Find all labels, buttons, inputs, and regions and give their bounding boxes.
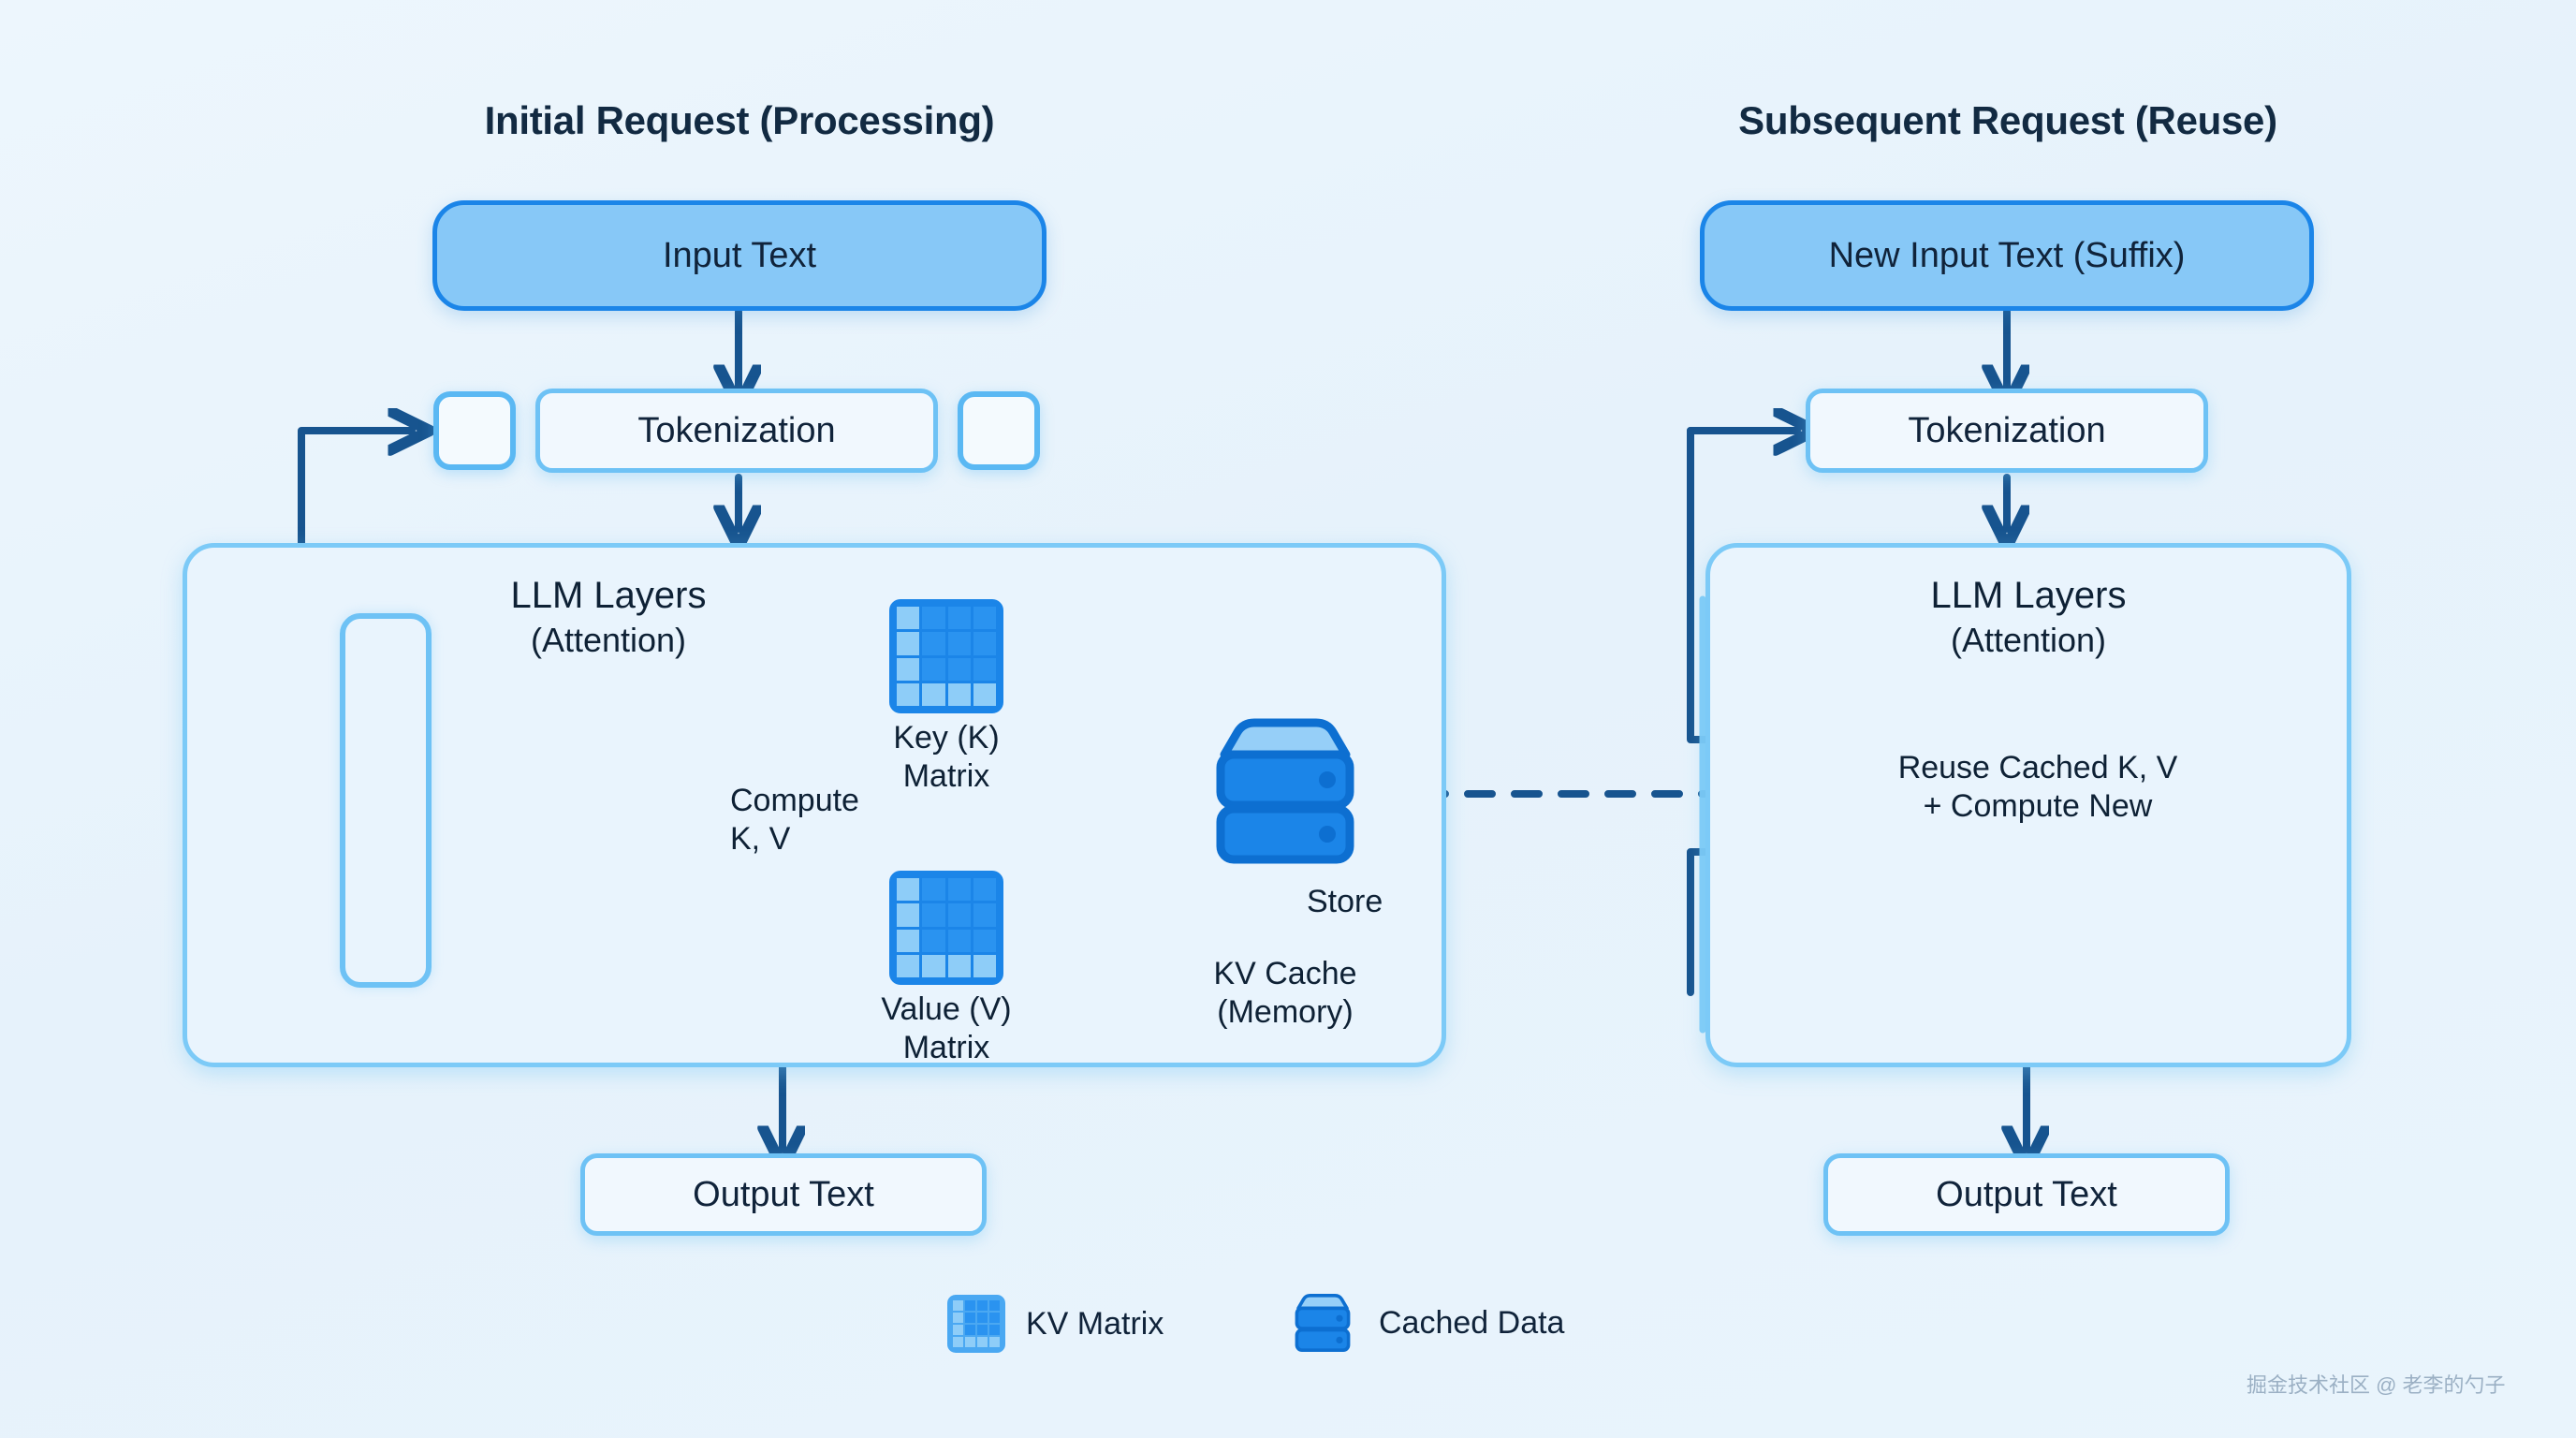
legend-label-cached-data: Cached Data — [1379, 1305, 1564, 1342]
node-output-text-left[interactable]: Output Text — [580, 1153, 987, 1236]
legend-item-cached-data: Cached Data — [1287, 1289, 1564, 1357]
label-reuse-cached: Reuse Cached K, V + Compute New — [1832, 749, 2244, 827]
legend-label-kv-matrix: KV Matrix — [1026, 1306, 1164, 1343]
label-attention-right: (Attention) — [1822, 620, 2234, 661]
panel-title-initial: Initial Request (Processing) — [407, 98, 1072, 143]
label-llm-layers-left: LLM Layers — [402, 573, 814, 619]
node-output-text-right[interactable]: Output Text — [1823, 1153, 2230, 1236]
node-input-text-left[interactable]: Input Text — [432, 200, 1046, 311]
token-chip-left-start — [433, 391, 516, 470]
token-chip-left-end — [958, 391, 1040, 470]
watermark: 掘金技术社区 @ 老李的勺子 — [2247, 1369, 2506, 1399]
kv-matrix-legend-icon — [947, 1295, 1005, 1353]
label-llm-layers-right: LLM Layers — [1822, 573, 2234, 619]
key-matrix-icon — [889, 599, 1003, 713]
node-tokenization-left[interactable]: Tokenization — [535, 389, 938, 473]
node-tokenization-right[interactable]: Tokenization — [1806, 389, 2208, 473]
legend-item-kv-matrix: KV Matrix — [947, 1295, 1164, 1353]
label-key-matrix: Key (K) Matrix — [853, 719, 1040, 797]
node-input-text-right[interactable]: New Input Text (Suffix) — [1700, 200, 2314, 311]
panel-title-subsequent: Subsequent Request (Reuse) — [1643, 98, 2373, 143]
value-matrix-icon — [889, 871, 1003, 985]
label-kv-cache-memory: KV Cache (Memory) — [1173, 955, 1398, 1033]
attention-stack-left — [340, 613, 432, 988]
diagram-canvas: Initial Request (Processing) Input Text … — [0, 0, 2576, 1438]
kv-cache-server-icon — [1196, 712, 1374, 871]
label-store: Store — [1307, 883, 1456, 921]
cached-data-server-icon — [1287, 1289, 1358, 1357]
label-attention-left: (Attention) — [402, 620, 814, 661]
label-value-matrix: Value (V) Matrix — [853, 990, 1040, 1068]
